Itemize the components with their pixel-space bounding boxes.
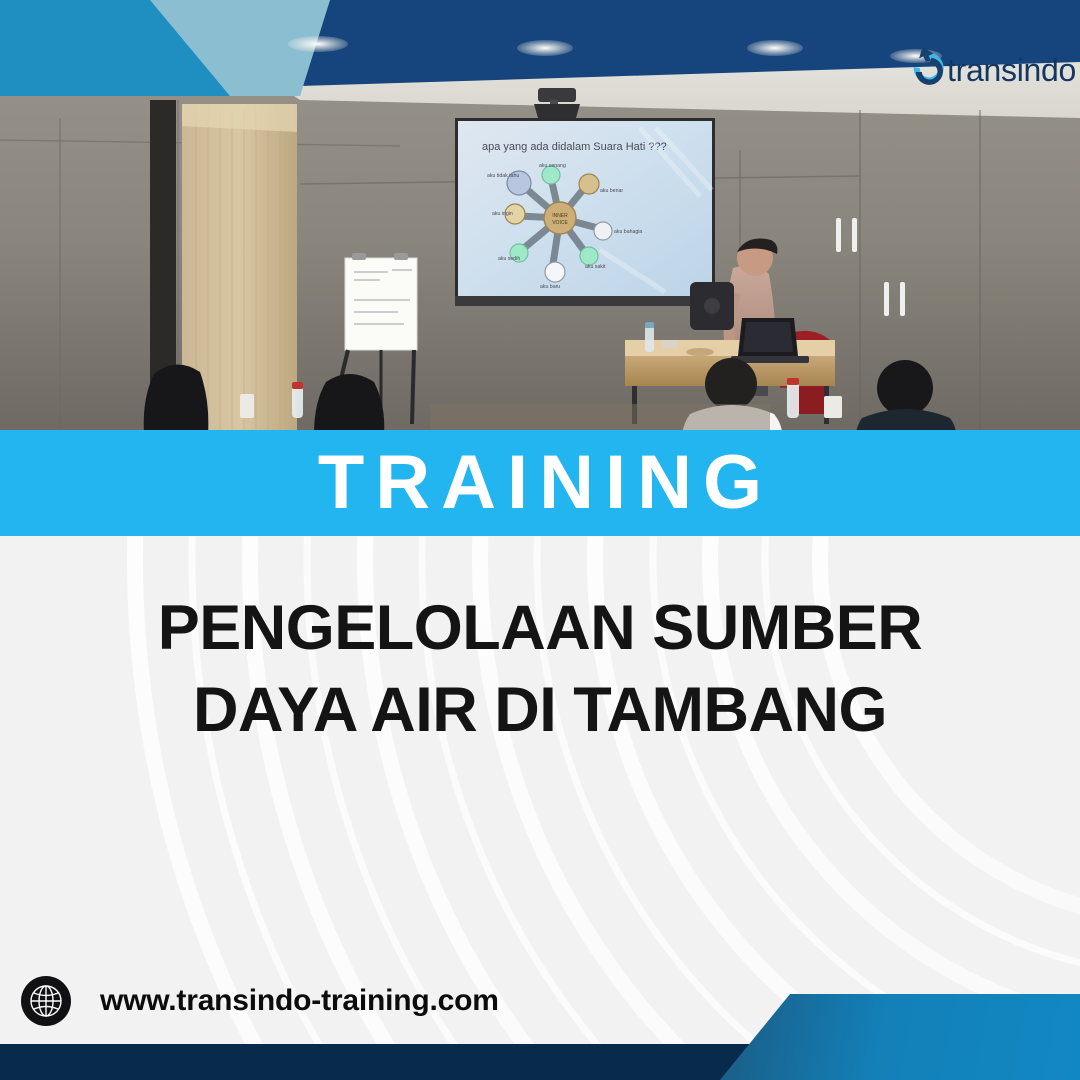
svg-text:aku tidak tahu: aku tidak tahu — [487, 173, 519, 179]
page-title: PENGELOLAAN SUMBER DAYA AIR DI TAMBANG — [0, 588, 1080, 752]
svg-text:aku sedih: aku sedih — [498, 256, 520, 262]
brand-logo: transindo — [900, 30, 1076, 110]
transindo-swoosh-arrow-icon — [900, 32, 945, 108]
footer-contact: www.transindo-training.com — [0, 958, 1080, 1044]
training-banner-label: TRAINING — [307, 445, 773, 521]
brand-name: transindo — [947, 54, 1076, 86]
svg-text:aku sakit: aku sakit — [585, 264, 606, 270]
globe-icon — [20, 975, 72, 1027]
svg-text:aku baru: aku baru — [540, 284, 560, 290]
svg-text:apa yang ada didalam Suara Hat: apa yang ada didalam Suara Hati ??? — [482, 141, 667, 153]
website-url[interactable]: www.transindo-training.com — [100, 984, 499, 1018]
page-title-line-1: PENGELOLAAN SUMBER — [70, 588, 1010, 670]
svg-text:INNER: INNER — [552, 213, 568, 219]
svg-text:aku bahagia: aku bahagia — [614, 229, 642, 235]
poster-canvas: apa yang ada didalam Suara Hati ??? INNE… — [0, 0, 1080, 1080]
svg-text:VOICE: VOICE — [552, 220, 568, 226]
svg-text:aku benar: aku benar — [600, 188, 623, 194]
svg-text:aku senang: aku senang — [539, 163, 566, 169]
page-title-line-2: DAYA AIR DI TAMBANG — [70, 670, 1010, 752]
training-banner: TRAINING — [0, 430, 1080, 536]
svg-text:aku ingin: aku ingin — [492, 211, 513, 217]
